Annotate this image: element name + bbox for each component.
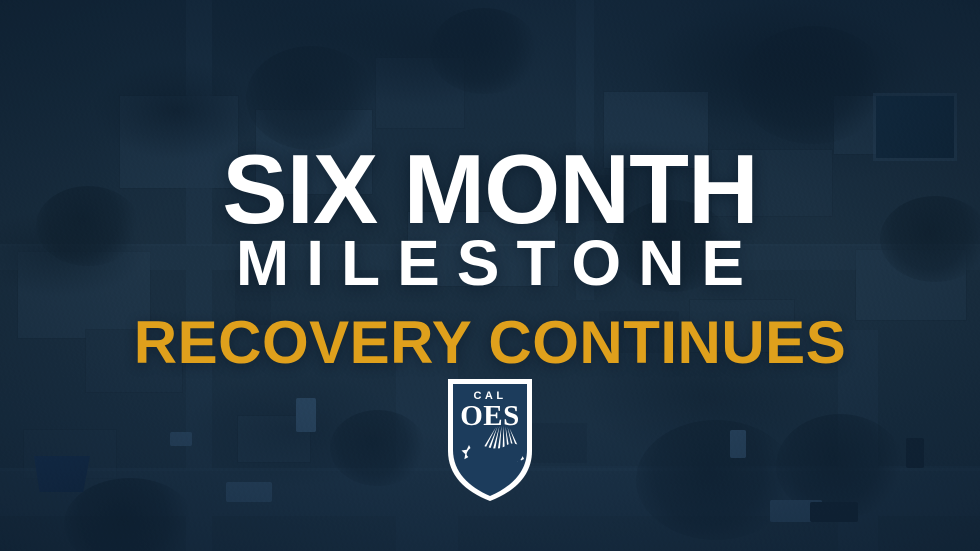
graphic-content: SIX MONTH MILESTONE RECOVERY CONTINUES xyxy=(0,0,980,551)
headline-tagline: RECOVERY CONTINUES xyxy=(0,313,980,373)
headline-primary: SIX MONTH xyxy=(0,140,980,238)
cal-oes-logo: CAL OES xyxy=(448,379,532,501)
cal-oes-shield-icon: CAL OES xyxy=(448,379,532,501)
promotional-graphic: SIX MONTH MILESTONE RECOVERY CONTINUES xyxy=(0,0,980,551)
logo-main-text: OES xyxy=(460,400,520,432)
headline-secondary: MILESTONE xyxy=(0,231,980,295)
